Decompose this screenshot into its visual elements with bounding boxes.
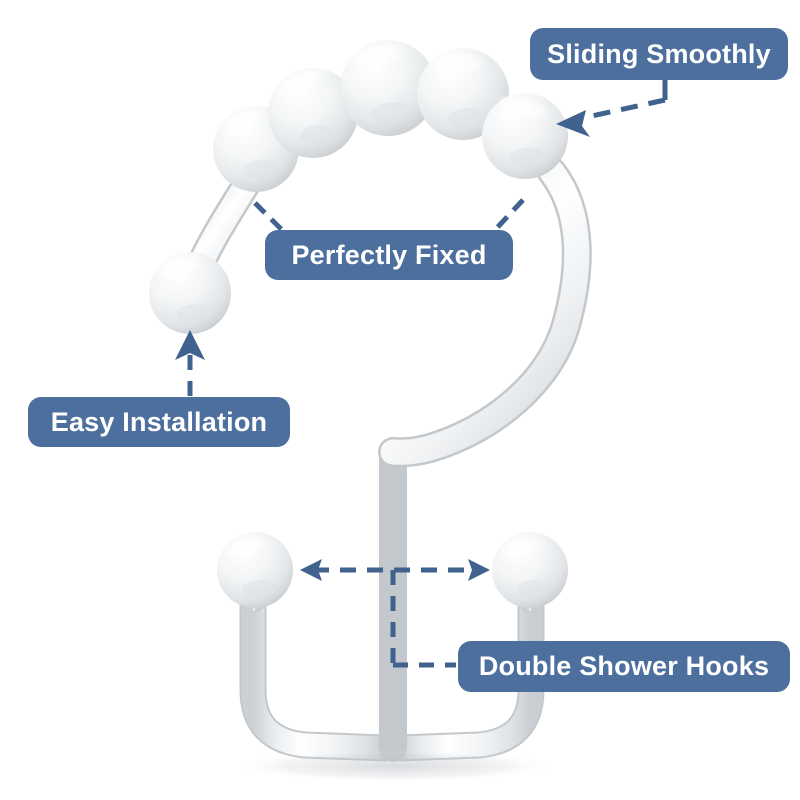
connector-perfectly-fixed-right (494, 200, 523, 231)
infographic-canvas: Sliding Smoothly Perfectly Fixed Easy In… (0, 0, 800, 800)
connector-perfectly-fixed-left (255, 203, 284, 232)
callout-perfectly-fixed[interactable]: Perfectly Fixed (265, 230, 513, 280)
hook-upper-arm (393, 172, 577, 452)
lower-hook-ball-right (492, 531, 568, 608)
callout-label-text: Perfectly Fixed (291, 242, 486, 269)
roller-bead-group (212, 36, 568, 192)
callout-label-text: Easy Installation (51, 409, 267, 436)
callout-label-text: Double Shower Hooks (479, 653, 769, 680)
callout-easy-installation[interactable]: Easy Installation (28, 397, 290, 447)
callout-label-text: Sliding Smoothly (547, 41, 771, 68)
product-shadow (235, 750, 555, 782)
lower-hook-ball-left (217, 531, 293, 608)
callout-sliding-smoothly[interactable]: Sliding Smoothly (530, 28, 788, 80)
double-arrow-horizontal-icon (468, 559, 490, 581)
callout-double-shower-hooks[interactable]: Double Shower Hooks (458, 641, 790, 692)
connector-sliding-smoothly (578, 80, 665, 119)
